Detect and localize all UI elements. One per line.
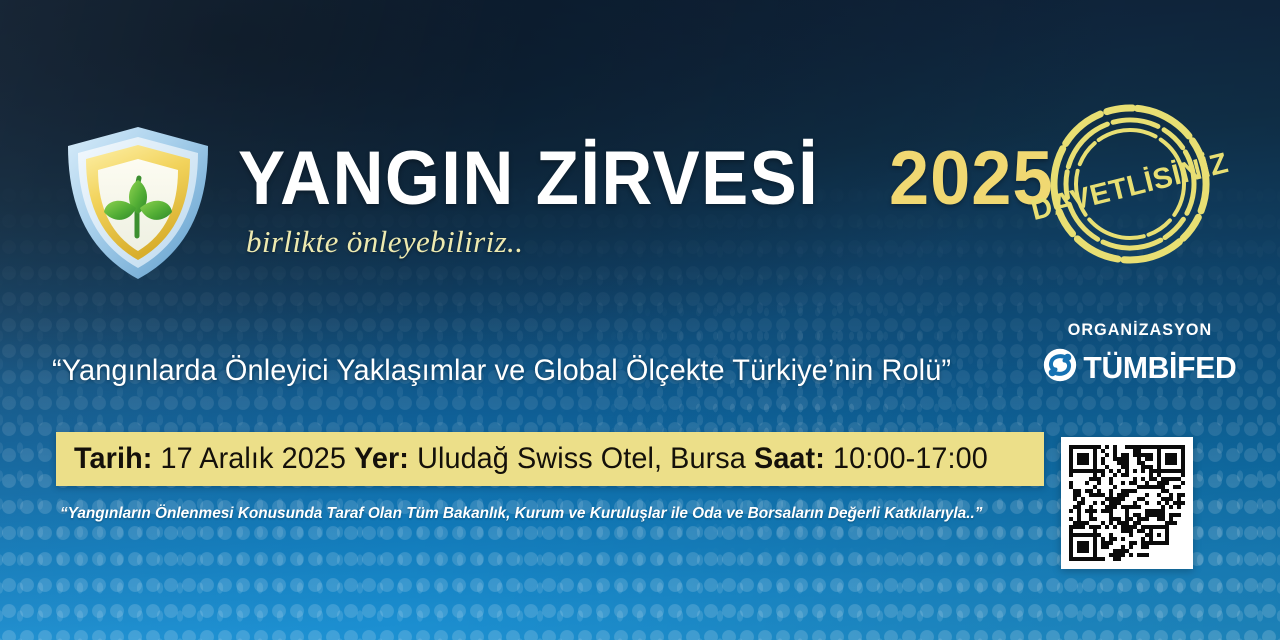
title-tagline: birlikte önleyebiliriz..	[246, 224, 1062, 260]
venue-label: Yer:	[354, 442, 409, 475]
invitation-stamp-icon: DAVETLİSİNİZ	[1026, 92, 1234, 270]
headline-block: YANGIN ZİRVESİ 2025 birlikte önleyebilir…	[238, 140, 1062, 260]
tumbifed-logo-icon	[1042, 347, 1078, 388]
date-label: Tarih:	[74, 442, 152, 475]
event-banner: YANGIN ZİRVESİ 2025 birlikte önleyebilir…	[0, 0, 1280, 640]
time-label: Saat:	[754, 442, 825, 475]
venue-value: Uludağ Swiss Otel, Bursa	[417, 442, 746, 475]
shield-with-plant-icon	[62, 124, 214, 282]
theme-quote: “Yangınlarda Önleyici Yaklaşımlar ve Glo…	[52, 352, 949, 390]
page-title: YANGIN ZİRVESİ	[238, 140, 819, 218]
organizer-label: ORGANİZASYON	[1045, 320, 1235, 340]
qr-code-icon[interactable]	[1061, 437, 1193, 569]
time-value: 10:00-17:00	[833, 442, 988, 475]
event-details-bar: Tarih: 17 Aralık 2025 Yer: Uludağ Swiss …	[56, 432, 1044, 486]
organizer-block: ORGANİZASYON TÜMBİFED	[1040, 320, 1240, 388]
footnote-text: “Yangınların Önlenmesi Konusunda Taraf O…	[60, 503, 943, 525]
date-value: 17 Aralık 2025	[161, 442, 346, 475]
organizer-name: TÜMBİFED	[1083, 350, 1236, 386]
